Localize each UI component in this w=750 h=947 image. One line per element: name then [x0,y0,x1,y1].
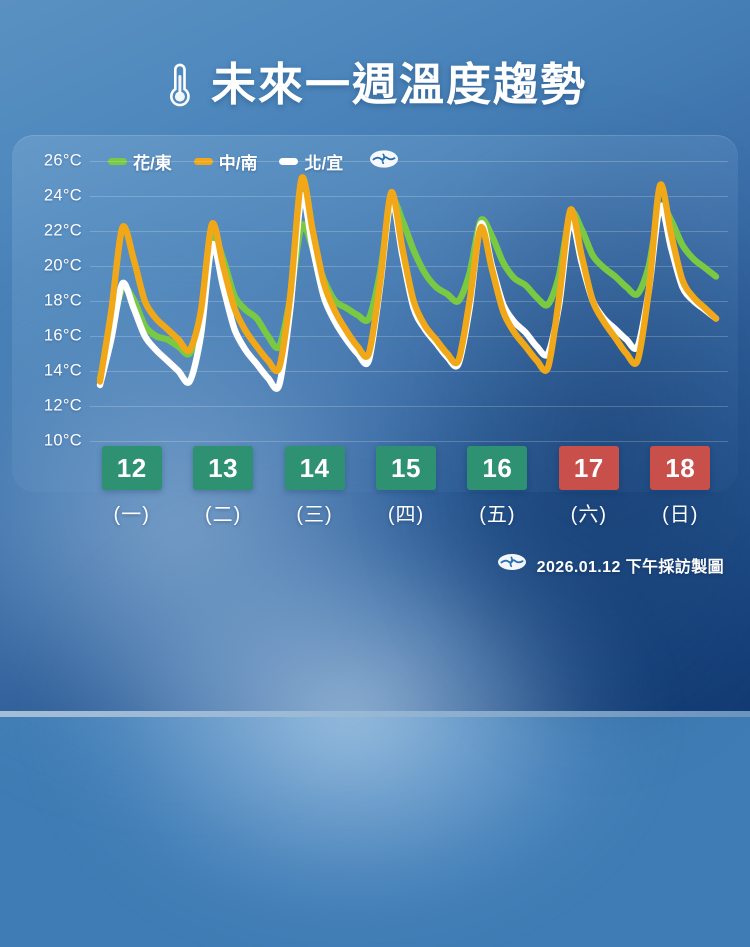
date-cell: 15 [360,446,451,490]
date-badge-13[interactable]: 13 [193,446,253,490]
y-tick-16: 16°C [44,327,82,346]
weekday-label-mon: (一) [86,498,177,526]
date-badges-row: 12 13 14 15 16 17 18 [86,446,726,490]
date-cell: 12 [86,446,177,490]
background-bottom-strip [0,711,750,717]
y-axis: 26°C 24°C 22°C 20°C 18°C 16°C 14°C 12°C … [12,135,90,492]
weekday-label-thu: (四) [360,498,451,526]
cwa-logo-icon [496,552,528,577]
footer: 2026.01.12 下午採訪製圖 [496,552,724,577]
date-badge-15[interactable]: 15 [376,446,436,490]
date-badge-18[interactable]: 18 [650,446,710,490]
page-header: 未來一週溫度趨勢 [0,58,750,110]
date-cell: 18 [635,446,726,490]
y-tick-26: 26°C [44,152,82,171]
date-badge-12[interactable]: 12 [102,446,162,490]
weekday-label-sat: (六) [543,498,634,526]
date-badge-16[interactable]: 16 [467,446,527,490]
date-badge-17[interactable]: 17 [559,446,619,490]
footer-timestamp: 2026.01.12 下午採訪製圖 [537,553,724,577]
series-line-中/南 [100,177,716,381]
weekday-label-fri: (五) [452,498,543,526]
y-tick-14: 14°C [44,362,82,381]
weekday-label-sun: (日) [635,498,726,526]
y-tick-20: 20°C [44,257,82,276]
temperature-curves [90,135,728,492]
chart-plot-area [90,135,728,492]
date-cell: 16 [452,446,543,490]
date-badge-14[interactable]: 14 [285,446,345,490]
weekday-label-wed: (三) [269,498,360,526]
series-line-北/宜 [100,195,716,389]
date-cell: 17 [543,446,634,490]
weekday-label-tue: (二) [177,498,268,526]
thermometer-icon [163,58,197,110]
y-tick-12: 12°C [44,397,82,416]
chart-panel: 花/東 中/南 北/宜 26°C 24°C 22°C 20°C 18°C 16°… [12,135,738,492]
y-tick-22: 22°C [44,222,82,241]
date-cell: 14 [269,446,360,490]
y-tick-10: 10°C [44,432,82,451]
y-tick-18: 18°C [44,292,82,311]
date-cell: 13 [177,446,268,490]
weekday-labels-row: (一) (二) (三) (四) (五) (六) (日) [86,498,726,526]
y-tick-24: 24°C [44,187,82,206]
page-title: 未來一週溫度趨勢 [211,62,587,107]
